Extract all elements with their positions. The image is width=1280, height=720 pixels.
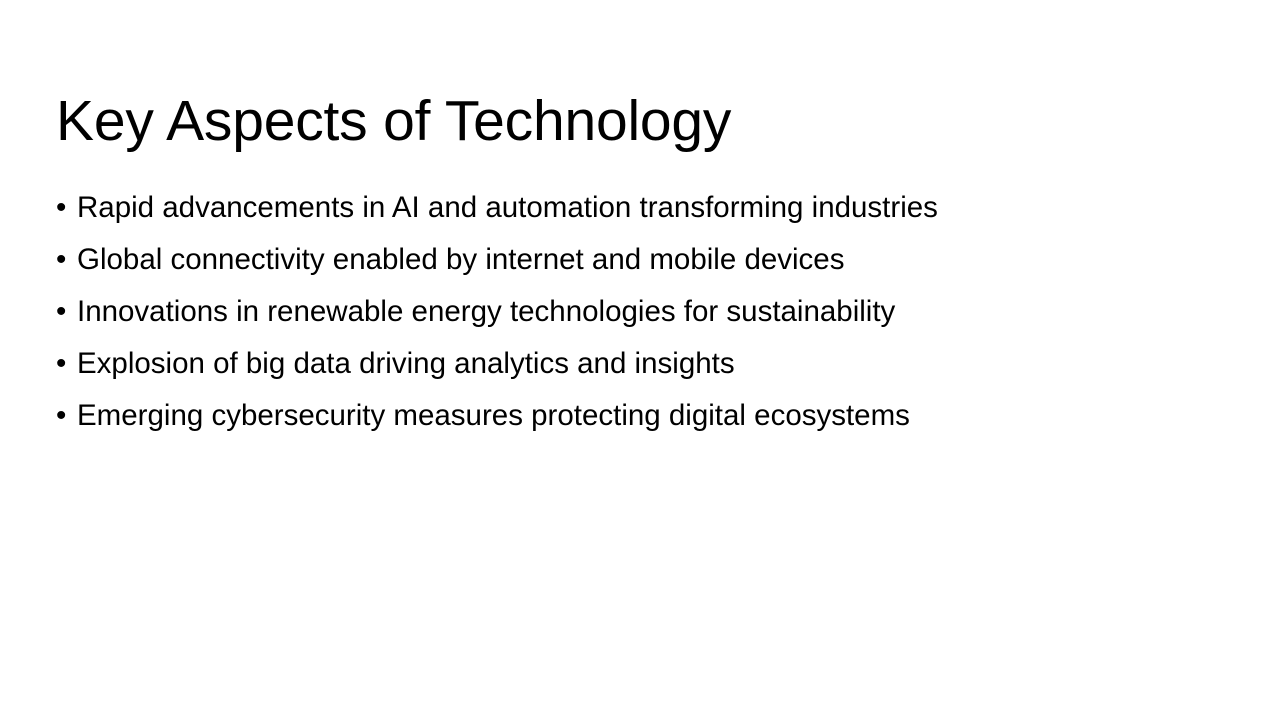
slide-canvas: Key Aspects of Technology • Rapid advanc… (0, 0, 1280, 720)
list-item-label: Explosion of big data driving analytics … (77, 338, 735, 390)
bullet-icon: • (56, 390, 77, 442)
bullet-icon: • (56, 182, 77, 234)
list-item-label: Global connectivity enabled by internet … (77, 234, 844, 286)
list-item: • Global connectivity enabled by interne… (56, 234, 1236, 286)
list-item-label: Rapid advancements in AI and automation … (77, 182, 938, 234)
list-item-label: Innovations in renewable energy technolo… (77, 286, 895, 338)
bullet-icon: • (56, 234, 77, 286)
list-item: • Emerging cybersecurity measures protec… (56, 390, 1236, 442)
list-item: • Innovations in renewable energy techno… (56, 286, 1236, 338)
bullet-list: • Rapid advancements in AI and automatio… (56, 182, 1236, 442)
list-item: • Explosion of big data driving analytic… (56, 338, 1236, 390)
page-title: Key Aspects of Technology (56, 88, 1226, 154)
bullet-icon: • (56, 286, 77, 338)
list-item-label: Emerging cybersecurity measures protecti… (77, 390, 910, 442)
list-item: • Rapid advancements in AI and automatio… (56, 182, 1236, 234)
bullet-icon: • (56, 338, 77, 390)
